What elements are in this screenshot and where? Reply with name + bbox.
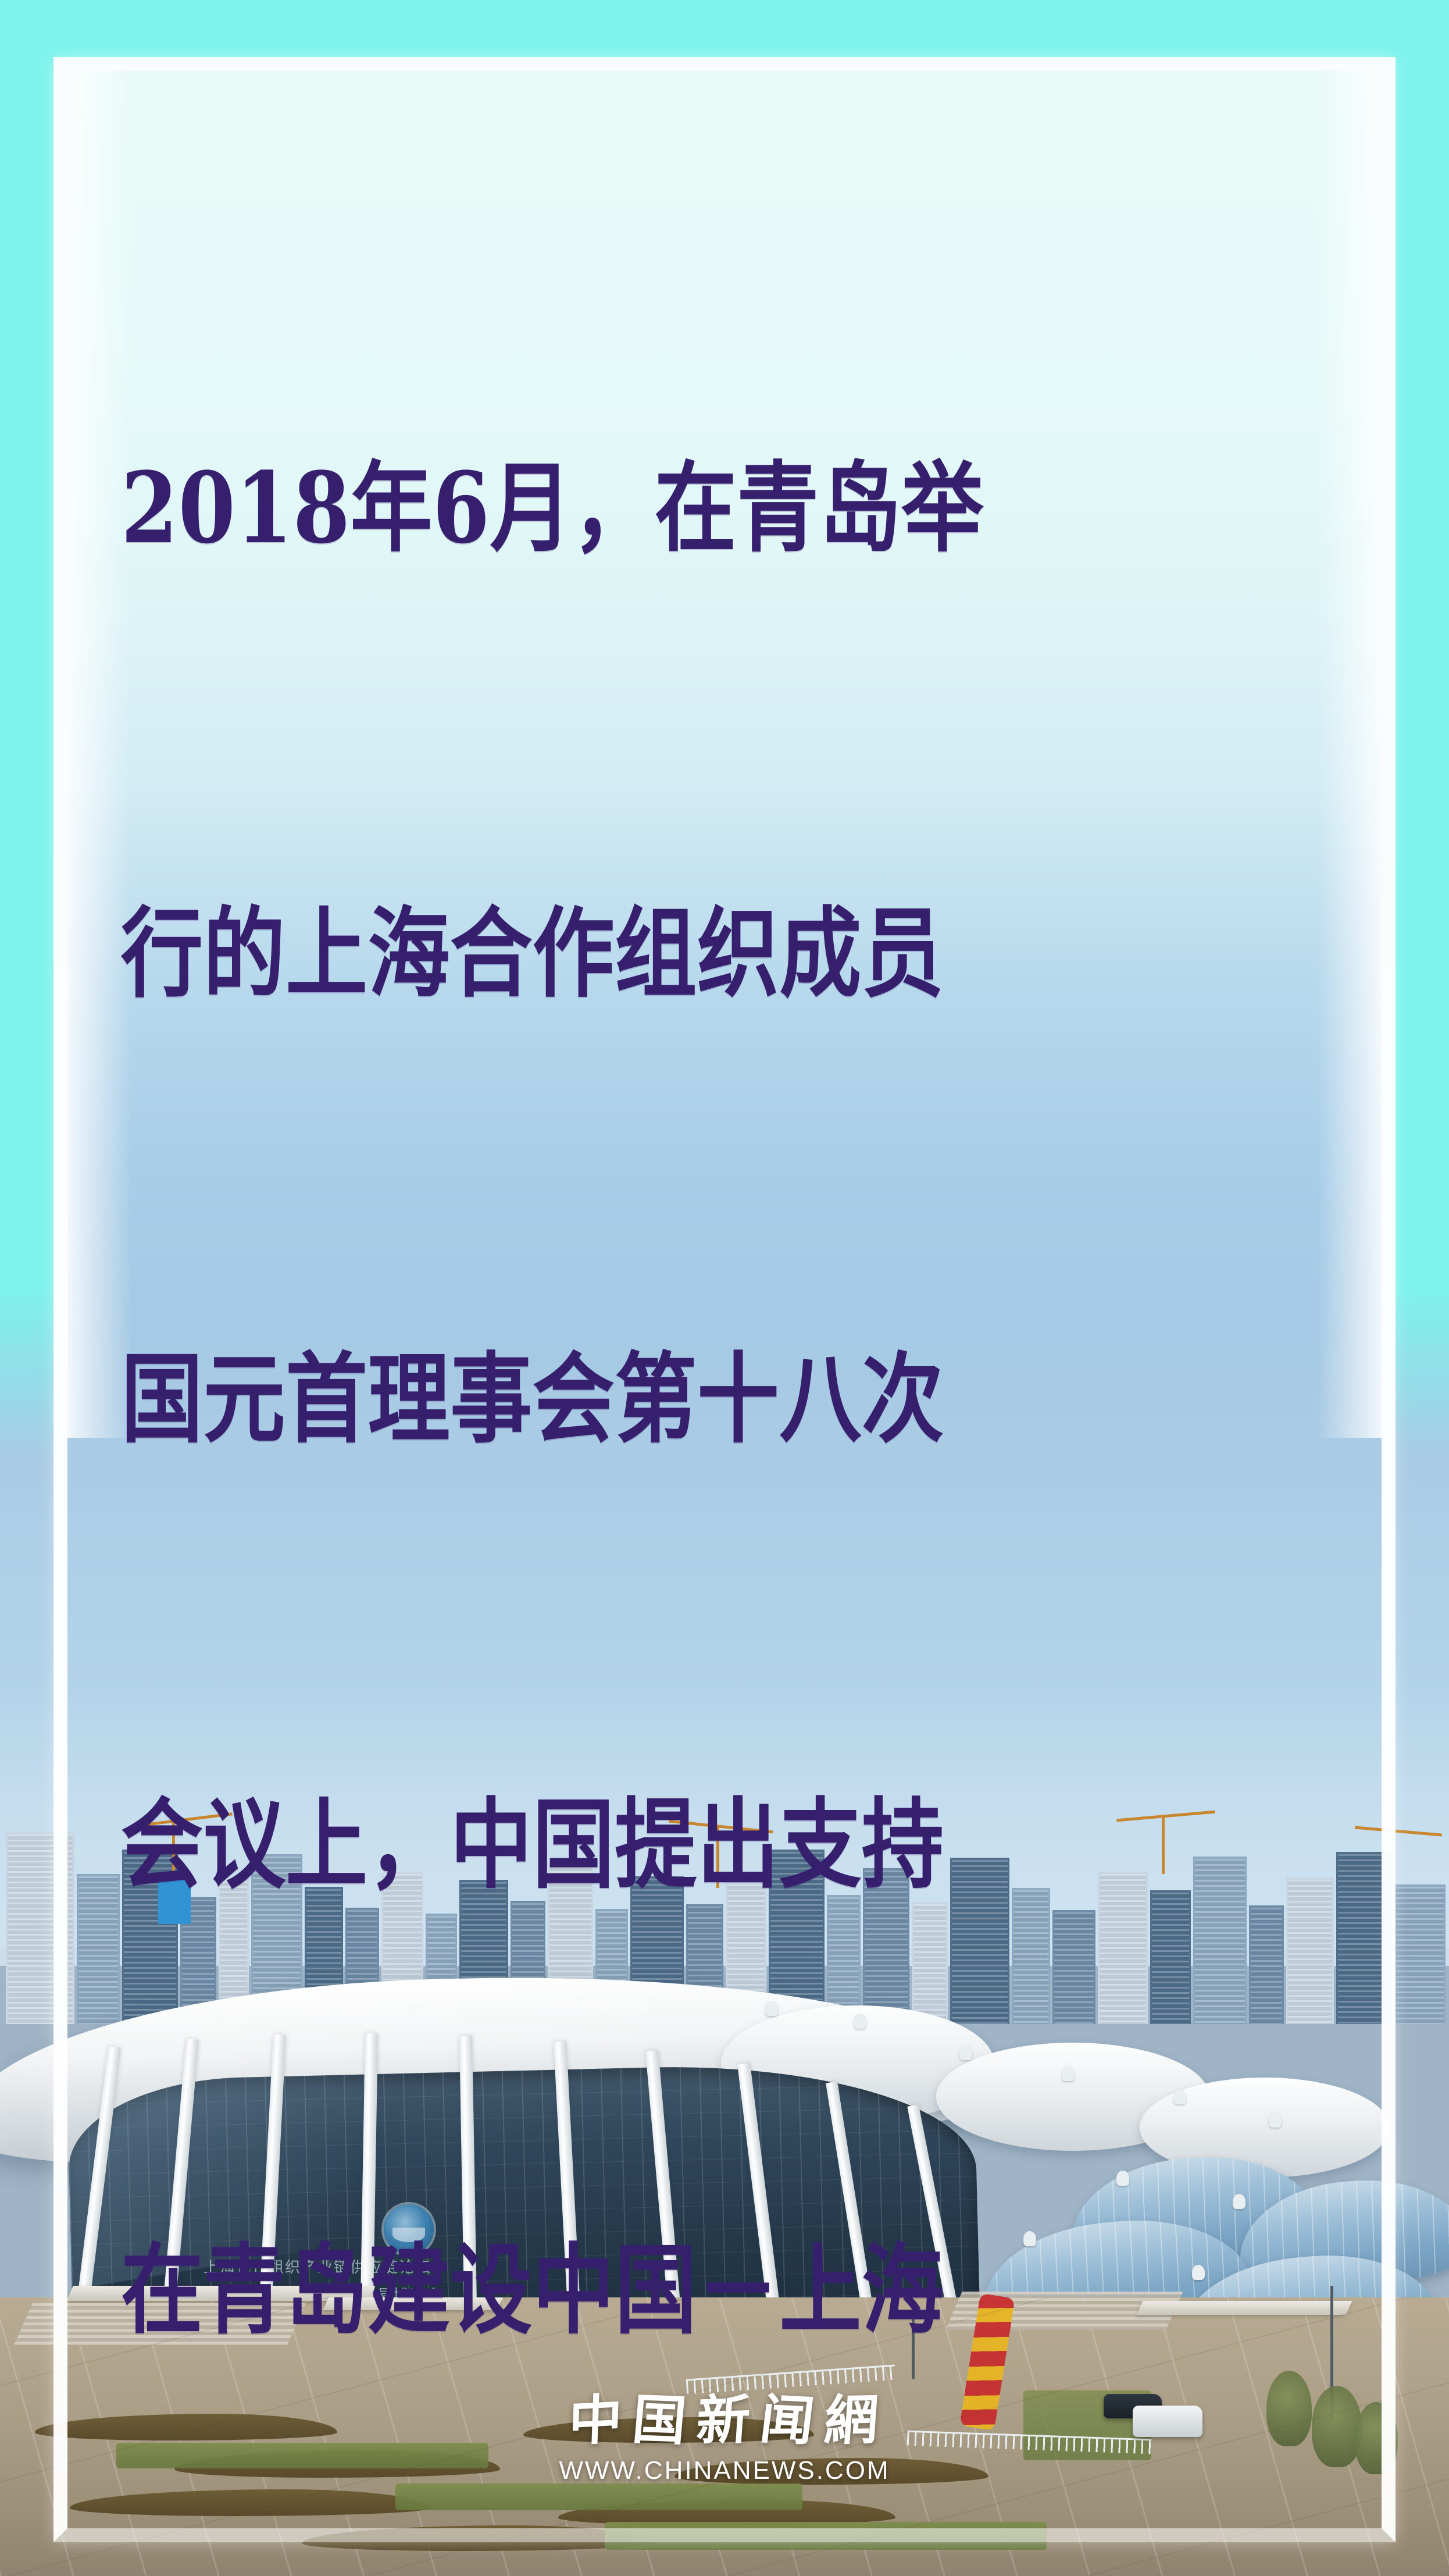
headline-line-4: 会议上，中国提出支持 (121, 1770, 1142, 1919)
poster-root: 上海合作组织产业链供应链论坛 暨2023上合国际投资贸易博览会 (0, 0, 1449, 2576)
headline-line-5: 在青岛建设中国－上海 (121, 2216, 1142, 2364)
construction-crane-icon (1162, 1817, 1165, 1874)
headline-line-3: 国元首理事会第十八次 (121, 1325, 1142, 1473)
border-left-cyan (0, 0, 53, 1460)
headline-line-2: 行的上海合作组织成员 (121, 879, 1142, 1028)
tree (1266, 2371, 1312, 2446)
border-top-cyan (0, 0, 1449, 57)
tree (1355, 2402, 1398, 2474)
vehicle-white (1133, 2406, 1202, 2437)
headline-block: 2018年6月，在青岛举 行的上海合作组织成员 国元首理事会第十八次 会议上，中… (121, 137, 1142, 2576)
construction-crane-icon (1355, 1826, 1442, 1836)
tree (1312, 2386, 1362, 2467)
border-right-cyan (1396, 0, 1449, 1460)
headline-line-1: 2018年6月，在青岛举 (121, 434, 1142, 582)
light-pole (1330, 2286, 1333, 2420)
